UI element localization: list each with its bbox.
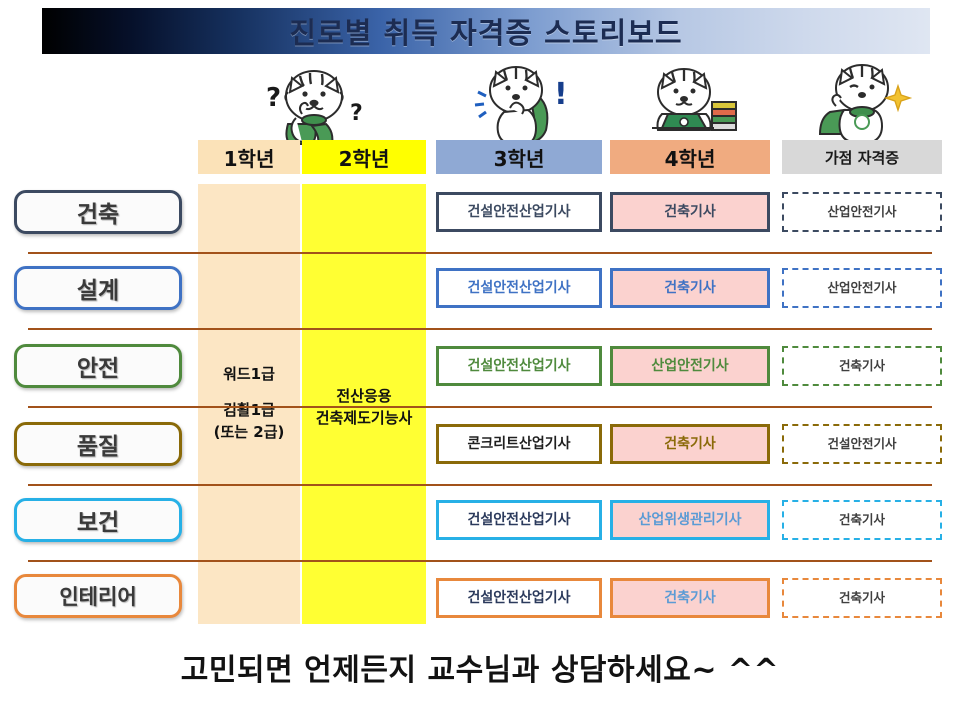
column-header-bonus-label: 가점 자격증: [825, 147, 899, 168]
tiger-studying-mascot: [636, 58, 752, 146]
cell-인테리어-bonus[interactable]: 건축기사: [782, 578, 942, 618]
year2-cert-line-2: 건축제도기능사: [302, 408, 426, 430]
cell-품질-year4[interactable]: 건축기사: [610, 424, 770, 464]
row-label-text: 인테리어: [59, 581, 136, 611]
column-header-year3-label: 3학년: [494, 143, 545, 172]
row-label-보건[interactable]: 보건: [14, 498, 182, 542]
cell-건축-year4[interactable]: 건축기사: [610, 192, 770, 232]
cert-name: 건축기사: [839, 513, 885, 527]
row-label-인테리어[interactable]: 인테리어: [14, 574, 182, 618]
year1-cert-line-1: 워드1급: [198, 364, 300, 386]
row-label-text: 안전: [77, 349, 119, 383]
column-header-year2: 2학년: [302, 140, 426, 174]
row-label-품질[interactable]: 품질: [14, 422, 182, 466]
cell-건축-bonus[interactable]: 산업안전기사: [782, 192, 942, 232]
row-label-안전[interactable]: 안전: [14, 344, 182, 388]
svg-text:!: !: [554, 77, 568, 112]
cell-품질-year3[interactable]: 콘크리트산업기사: [436, 424, 602, 464]
cert-name: 건설안전산업기사: [467, 204, 570, 220]
cell-보건-year3[interactable]: 건설안전산업기사: [436, 500, 602, 540]
cert-name: 건축기사: [664, 436, 716, 452]
page-title: 진로별 취득 자격증 스토리보드: [42, 8, 930, 54]
cell-품질-bonus[interactable]: 건설안전기사: [782, 424, 942, 464]
column-header-bonus: 가점 자격증: [782, 140, 942, 174]
cert-name: 건축기사: [664, 280, 716, 296]
row-label-건축[interactable]: 건축: [14, 190, 182, 234]
storyboard-slide: 진로별 취득 자격증 스토리보드 ? ?: [0, 0, 960, 720]
year2-cert-line-1: 전산응용: [302, 386, 426, 408]
row-separator: [28, 406, 932, 408]
cert-name: 산업위생관리기사: [638, 512, 741, 528]
cert-name: 건설안전기사: [827, 437, 896, 451]
column-header-year3: 3학년: [436, 140, 602, 174]
cell-안전-year3[interactable]: 건설안전산업기사: [436, 346, 602, 386]
cell-설계-year3[interactable]: 건설안전산업기사: [436, 268, 602, 308]
row-separator: [28, 252, 932, 254]
cert-name: 건설안전산업기사: [467, 358, 570, 374]
cell-설계-bonus[interactable]: 산업안전기사: [782, 268, 942, 308]
cert-name: 건축기사: [839, 591, 885, 605]
row-label-text: 건축: [77, 195, 119, 229]
year1-cert-line-3: (또는 2급): [198, 422, 300, 444]
cell-안전-bonus[interactable]: 건축기사: [782, 346, 942, 386]
column-header-year1-label: 1학년: [224, 143, 275, 172]
year1-merged-cert-text: 워드1급 컴활1급 (또는 2급): [198, 364, 300, 443]
footer-caption: 고민되면 언제든지 교수님과 상담하세요~ ^^: [0, 645, 960, 689]
column-header-year2-label: 2학년: [339, 143, 390, 172]
cert-name: 건축기사: [664, 590, 716, 606]
cell-보건-bonus[interactable]: 건축기사: [782, 500, 942, 540]
svg-text:?: ?: [266, 83, 281, 113]
column-header-year4: 4학년: [610, 140, 770, 174]
row-label-text: 품질: [77, 427, 119, 461]
cell-건축-year3[interactable]: 건설안전산업기사: [436, 192, 602, 232]
cell-설계-year4[interactable]: 건축기사: [610, 268, 770, 308]
row-label-설계[interactable]: 설계: [14, 266, 182, 310]
column-header-year1: 1학년: [198, 140, 300, 174]
cert-name: 산업안전기사: [827, 281, 896, 295]
cert-name: 산업안전기사: [651, 358, 728, 374]
cert-name: 건설안전산업기사: [467, 590, 570, 606]
row-separator: [28, 560, 932, 562]
cert-name: 건설안전산업기사: [467, 280, 570, 296]
row-label-text: 보건: [77, 503, 119, 537]
cell-보건-year4[interactable]: 산업위생관리기사: [610, 500, 770, 540]
year1-cert-line-2: 컴활1급: [198, 400, 300, 422]
cell-인테리어-year3[interactable]: 건설안전산업기사: [436, 578, 602, 618]
tiger-graduate-mascot: [806, 56, 922, 146]
cert-name: 건축기사: [839, 359, 885, 373]
row-label-text: 설계: [77, 271, 119, 305]
cert-name: 콘크리트산업기사: [467, 436, 570, 452]
cell-인테리어-year4[interactable]: 건축기사: [610, 578, 770, 618]
row-separator: [28, 484, 932, 486]
cert-name: 건설안전산업기사: [467, 512, 570, 528]
row-separator: [28, 328, 932, 330]
tiger-thinking-mascot: ? ?: [252, 58, 378, 146]
column-header-year4-label: 4학년: [665, 143, 716, 172]
tiger-excited-mascot: !: [466, 56, 576, 146]
cert-name: 산업안전기사: [827, 205, 896, 219]
cell-안전-year4[interactable]: 산업안전기사: [610, 346, 770, 386]
svg-text:?: ?: [350, 101, 363, 126]
cert-name: 건축기사: [664, 204, 716, 220]
